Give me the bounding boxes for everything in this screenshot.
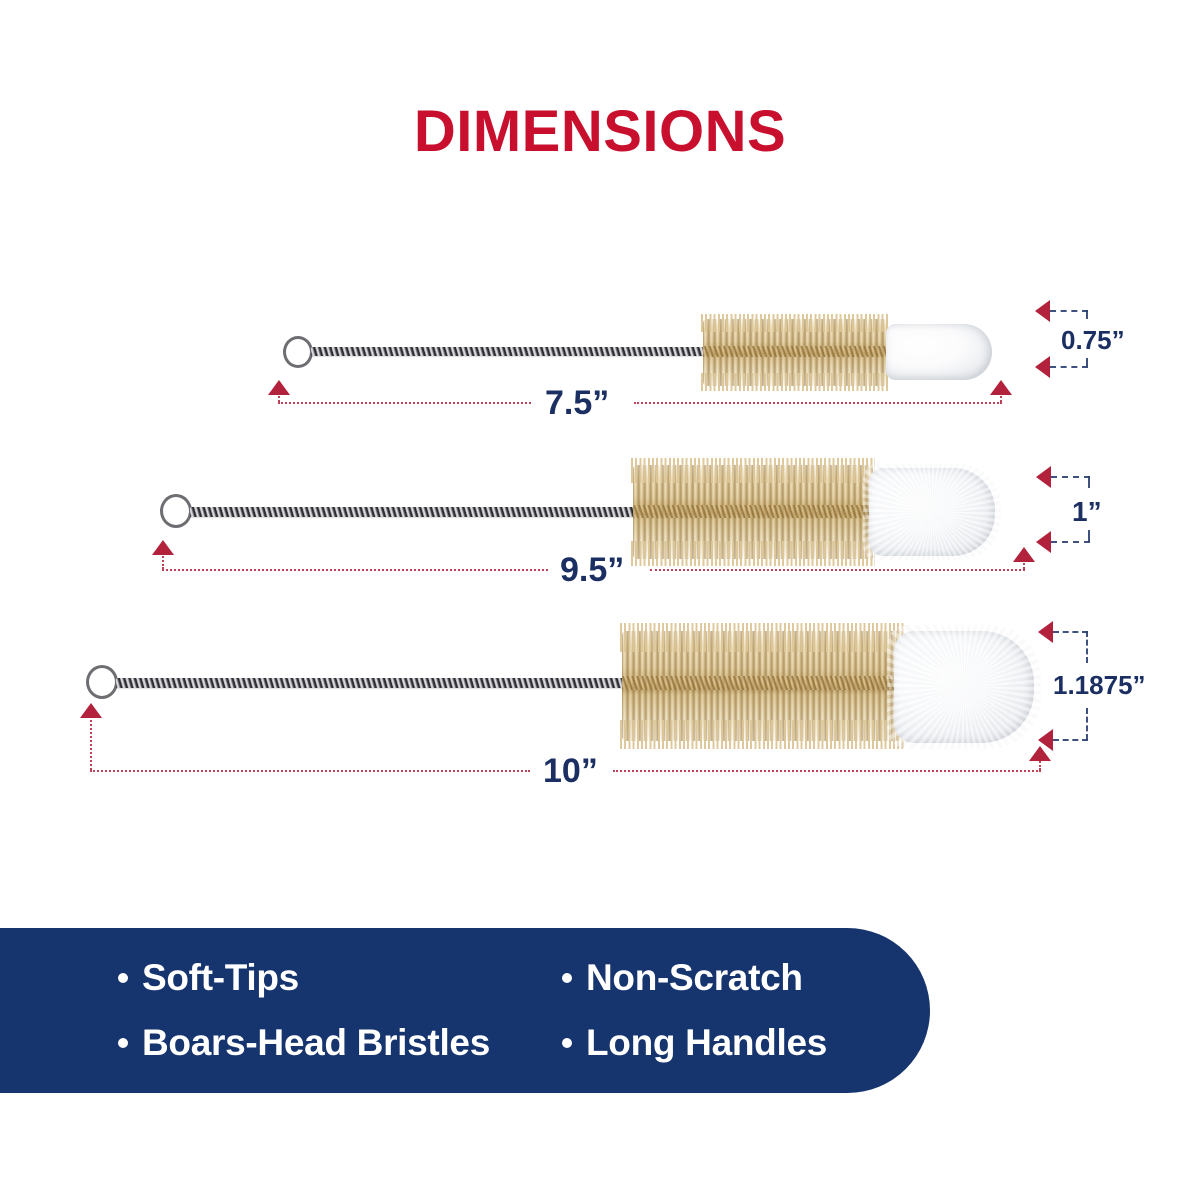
feature-label: Boars-Head Bristles	[142, 1022, 490, 1064]
dim-tick-left-small	[278, 392, 280, 402]
dim-rule-right-small	[634, 402, 1002, 404]
dim-arrow-right-medium	[1013, 547, 1035, 562]
dim-tick-top-medium	[1088, 476, 1090, 488]
feature-label: Soft-Tips	[142, 957, 299, 999]
brush-large	[0, 615, 1200, 735]
feature-label: Non-Scratch	[586, 957, 803, 999]
bullet-icon	[118, 1038, 128, 1048]
feature-item-non-scratch: Non-Scratch	[562, 957, 930, 999]
dim-tick-top-small	[1086, 310, 1088, 319]
dim-label-length-large: 10”	[543, 752, 598, 791]
dim-arrow-right-small	[990, 380, 1012, 395]
dim-label-length-medium: 9.5”	[560, 551, 624, 590]
wire-shaft-large	[116, 678, 626, 688]
wire-shaft-small	[311, 347, 711, 356]
dim-tick-left-large	[90, 716, 92, 770]
bullet-icon	[118, 973, 128, 983]
dim-arrow-top-large	[1038, 621, 1053, 643]
feature-item-soft-tips: Soft-Tips	[118, 957, 548, 999]
dim-rule-bottom-small	[1050, 366, 1088, 368]
dim-rule-top-medium	[1051, 476, 1090, 478]
dim-tick-top-large	[1086, 631, 1088, 663]
soft-tip-small	[886, 324, 992, 380]
handle-loop-medium	[160, 494, 192, 528]
dim-arrow-top-medium	[1036, 466, 1051, 488]
bristle-core-large	[622, 676, 903, 690]
bristle-core-medium	[633, 505, 874, 518]
dim-rule-left-small	[278, 402, 531, 404]
dim-rule-left-large	[90, 770, 530, 772]
wire-shaft-medium	[190, 507, 640, 517]
dim-rule-bottom-medium	[1051, 541, 1090, 543]
feature-item-long-handles: Long Handles	[562, 1022, 930, 1064]
dim-rule-right-large	[613, 770, 1041, 772]
dim-arrow-bottom-large	[1038, 729, 1053, 751]
dim-rule-top-large	[1053, 631, 1088, 633]
soft-tip-medium	[869, 468, 995, 556]
dim-arrow-bottom-small	[1035, 356, 1050, 378]
dim-tick-bottom-large	[1086, 708, 1088, 740]
infographic-canvas: DIMENSIONS 7.5” 0.75”	[0, 0, 1200, 1200]
dim-label-width-large: 1.1875”	[1053, 670, 1146, 701]
bullet-icon	[562, 973, 572, 983]
dim-rule-right-medium	[650, 569, 1025, 571]
feature-item-boars-head-bristles: Boars-Head Bristles	[118, 1022, 548, 1064]
dim-arrow-top-small	[1035, 300, 1050, 322]
feature-banner: Soft-Tips Non-Scratch Boars-Head Bristle…	[0, 928, 930, 1093]
soft-tip-large	[894, 631, 1034, 743]
dim-rule-bottom-large	[1053, 739, 1088, 741]
bullet-icon	[562, 1038, 572, 1048]
dim-rule-top-small	[1050, 310, 1088, 312]
dim-rule-left-medium	[162, 569, 548, 571]
dim-label-length-small: 7.5”	[545, 384, 609, 423]
dim-tick-left-medium	[162, 553, 164, 569]
page-title: DIMENSIONS	[0, 98, 1200, 165]
handle-loop-large	[86, 665, 118, 699]
bristle-core-small	[703, 346, 889, 357]
dim-label-width-small: 0.75”	[1061, 325, 1125, 356]
dim-arrow-bottom-medium	[1036, 531, 1051, 553]
feature-label: Long Handles	[586, 1022, 827, 1064]
feature-list: Soft-Tips Non-Scratch Boars-Head Bristle…	[0, 928, 930, 1093]
dim-label-width-medium: 1”	[1072, 496, 1102, 528]
handle-loop-small	[283, 336, 313, 368]
